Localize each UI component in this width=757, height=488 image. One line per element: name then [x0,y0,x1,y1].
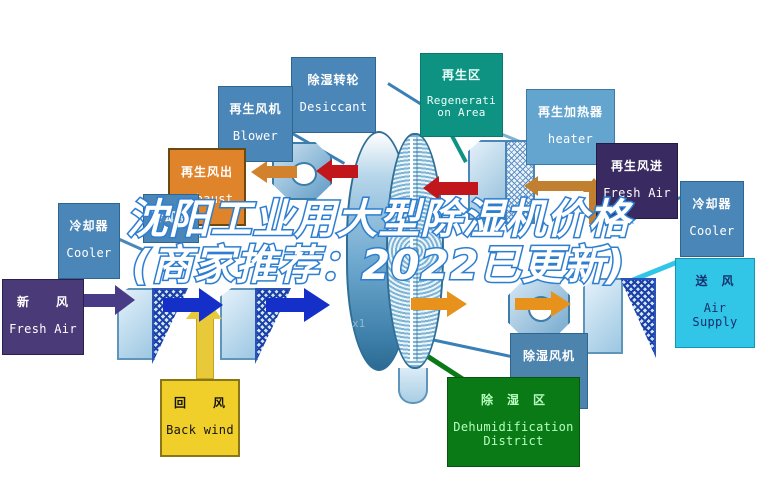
rotor-split-line-2 [416,137,418,361]
cooler-coil-3-body [583,278,623,354]
label-cooler-right[interactable]: 冷却器 Cooler [680,181,744,257]
label-air-supply[interactable]: 送 风 Air Supply [675,258,755,348]
label-regen-fresh-air-en: Fresh Air [599,187,675,200]
rotor-split-line [410,137,413,361]
label-cooler-mid-cn: 冷却器 [146,211,196,224]
label-fresh-air[interactable]: 新 风 Fresh Air [2,279,84,355]
label-regen-area-en: Regenerati on Area [423,95,500,120]
label-dehum-district[interactable]: 除 湿 区 Dehumidification District [447,377,580,467]
process-2 [266,288,330,322]
label-cooler-right-en: Cooler [683,225,741,238]
fresh-air-inlet [83,285,135,315]
label-back-wind-cn: 回 风 [164,397,236,410]
label-desiccant-cn: 除湿转轮 [294,74,373,87]
rotor-out-1 [411,291,467,317]
exhaust-arrow [251,161,297,183]
label-cooler-left-en: Cooler [61,247,117,260]
diagram-canvas: x1 [0,0,757,488]
label-fresh-air-en: Fresh Air [5,323,81,336]
label-dehum-district-cn: 除 湿 区 [450,394,577,407]
label-back-wind-en: Back wind [164,424,236,437]
cooler-coil-3-mesh [620,278,656,358]
label-cooler-left[interactable]: 冷却器 Cooler [58,203,120,279]
rotor-out-2 [515,291,571,317]
desiccant-rotor: x1 [346,131,442,367]
label-regen-area-cn: 再生区 [423,69,500,82]
label-regen-area[interactable]: 再生区 Regenerati on Area [420,53,503,137]
label-cooler-left-cn: 冷却器 [61,220,117,233]
label-dehum-district-en: Dehumidification District [450,421,577,448]
label-cooler-mid[interactable]: 冷却器 [143,194,199,243]
label-dehum-blower-cn: 除湿风机 [513,350,585,363]
label-regen-heater-cn: 再生加热器 [529,106,612,119]
label-exhaust-cn: 再生风出 [172,166,242,179]
label-air-supply-en: Air Supply [678,302,752,329]
label-fresh-air-cn: 新 风 [5,296,81,309]
regen-from-heater [423,176,477,200]
label-regen-fresh-air[interactable]: 再生风进 Fresh Air [596,143,678,219]
label-desiccant-en: Desiccant [294,101,373,114]
label-desiccant[interactable]: 除湿转轮 Desiccant [291,57,376,133]
label-back-wind[interactable]: 回 风 Back wind [160,379,240,457]
cooler-coil-2-body [220,288,258,360]
label-regen-fresh-air-cn: 再生风进 [599,160,675,173]
label-regen-blower-cn: 再生风机 [221,103,290,116]
rotor-honeycomb-face [386,133,444,369]
label-air-supply-cn: 送 风 [678,275,752,288]
regen-in-rotor [316,159,358,183]
process-1 [163,288,223,322]
label-regen-blower-en: Blower [221,130,290,143]
drain-pan [398,368,428,404]
label-cooler-right-cn: 冷却器 [683,198,741,211]
rotor-part-code: x1 [352,317,365,330]
